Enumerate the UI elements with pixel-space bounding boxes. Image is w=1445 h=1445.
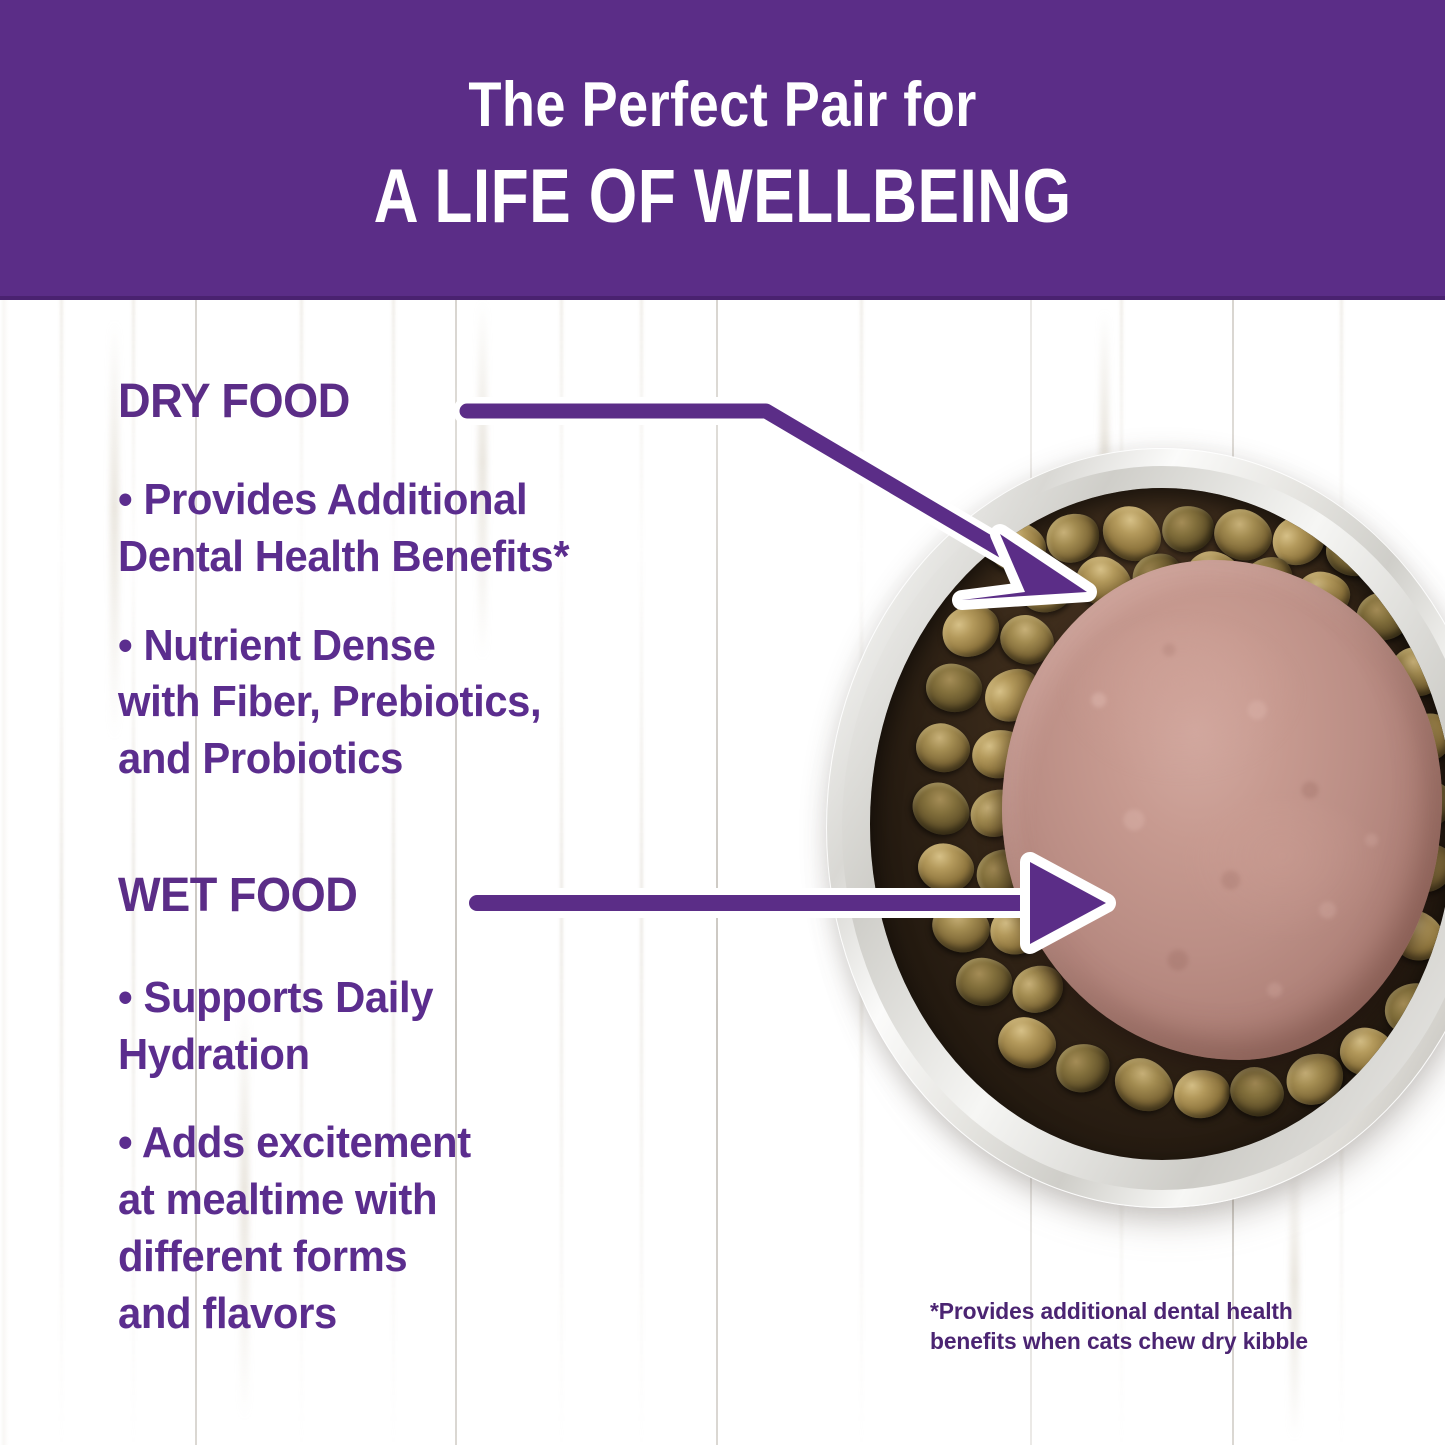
dry-food-bullet-1: • Provides Additional Dental Health Bene…	[118, 472, 745, 586]
dry-bullet-2-line-3: and Probiotics	[118, 734, 403, 783]
page-title-line-1: The Perfect Pair for	[468, 74, 976, 137]
kibble-piece	[935, 598, 1007, 665]
kibble-piece	[910, 717, 976, 779]
wet-bullet-1-line-1: • Supports Daily	[118, 973, 433, 1022]
kibble-piece	[992, 1010, 1063, 1075]
footnote-line-2: benefits when cats chew dry kibble	[930, 1328, 1308, 1354]
wet-bullet-2-line-2: at mealtime with	[118, 1175, 437, 1224]
wet-food-pate	[1002, 560, 1442, 1060]
dry-bullet-1-line-1: • Provides Additional	[118, 475, 527, 524]
dry-food-bullet-2: • Nutrient Dense with Fiber, Prebiotics,…	[118, 618, 745, 788]
kibble-piece	[954, 955, 1015, 1009]
wet-bullet-1-line-2: Hydration	[118, 1030, 310, 1079]
food-bowl-image	[826, 448, 1445, 1260]
kibble-piece	[1105, 1048, 1182, 1122]
benefits-copy-column: DRY FOOD • Provides Additional Dental He…	[118, 378, 778, 1342]
dry-bullet-2-line-1: • Nutrient Dense	[118, 621, 435, 670]
wet-bullet-2-line-4: and flavors	[118, 1289, 337, 1338]
dry-bullet-1-line-2: Dental Health Benefits*	[118, 532, 569, 581]
wet-food-bullet-1: • Supports Daily Hydration	[118, 970, 745, 1084]
kibble-piece	[913, 838, 979, 898]
wet-food-bullet-2: • Adds excitement at mealtime with diffe…	[118, 1115, 745, 1342]
dry-bullet-2-line-2: with Fiber, Prebiotics,	[118, 677, 541, 726]
section-heading-dry-food: DRY FOOD	[118, 378, 738, 426]
pate-highlight	[1182, 800, 1382, 940]
wet-bullet-2-line-1: • Adds excitement	[118, 1118, 471, 1167]
wet-bullet-2-line-3: different forms	[118, 1232, 407, 1281]
pate-highlight	[1062, 620, 1302, 780]
kibble-piece	[1223, 1059, 1292, 1125]
footnote: *Provides additional dental health benef…	[930, 1296, 1347, 1356]
kibble-piece	[1159, 503, 1217, 556]
header-banner: The Perfect Pair for A LIFE OF WELLBEING	[0, 0, 1445, 300]
kibble-piece	[925, 893, 998, 961]
kibble-piece	[1172, 1067, 1233, 1121]
product-infographic: The Perfect Pair for A LIFE OF WELLBEING	[0, 0, 1445, 1445]
bowl-interior	[870, 488, 1445, 1160]
kibble-piece	[1052, 1039, 1115, 1097]
kibble-piece	[903, 773, 978, 845]
kibble-piece	[922, 660, 985, 717]
section-heading-wet-food: WET FOOD	[118, 872, 738, 920]
footnote-line-1: *Provides additional dental health	[930, 1298, 1293, 1324]
page-title-line-2: A LIFE OF WELLBEING	[374, 159, 1072, 235]
